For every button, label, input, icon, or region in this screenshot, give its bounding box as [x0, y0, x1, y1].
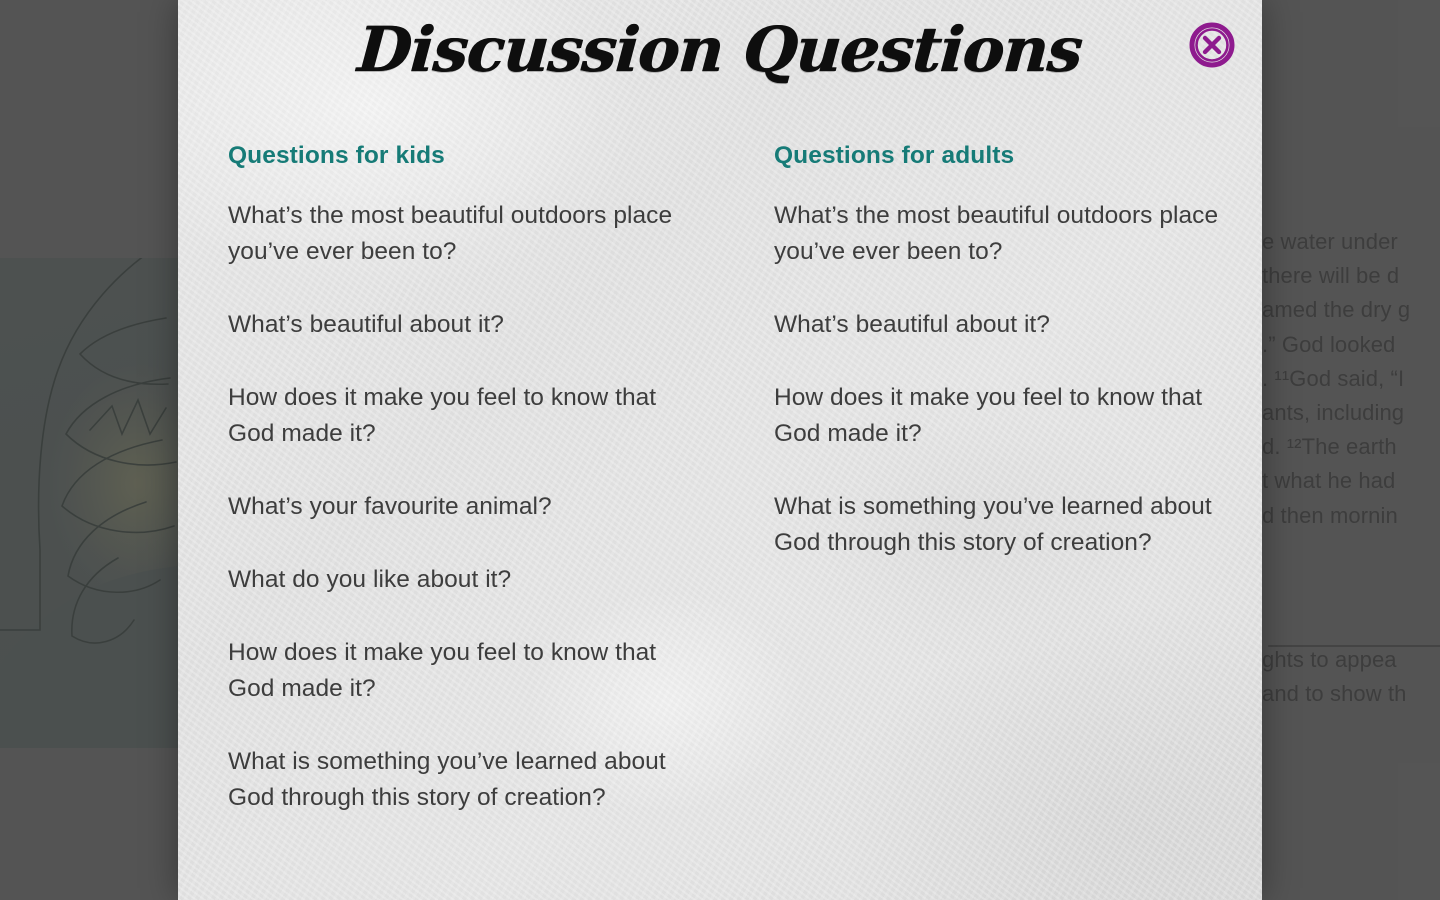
background-illustration	[0, 258, 185, 748]
list-item: How does it make you feel to know that G…	[228, 380, 680, 452]
background-text-line: d then mornin	[1262, 499, 1440, 533]
list-item: What’s the most beautiful outdoors place…	[774, 198, 1226, 270]
list-item: What do you like about it?	[228, 562, 680, 598]
questions-columns: Questions for kids What’s the most beaut…	[178, 84, 1262, 815]
leaf-line-art-icon	[0, 258, 185, 748]
list-item: What’s the most beautiful outdoors place…	[228, 198, 680, 270]
background-text-line: . ¹¹God said, “I	[1262, 362, 1440, 396]
background-text-line: t what he had	[1262, 464, 1440, 498]
close-icon-glyph	[1185, 18, 1239, 72]
background-text-line: there will be d	[1262, 259, 1440, 293]
adults-questions-column: Questions for adults What’s the most bea…	[774, 141, 1226, 815]
list-item: What’s beautiful about it?	[774, 307, 1226, 343]
background-text-line: ghts to appea	[1262, 643, 1440, 677]
list-item: What is something you’ve learned about G…	[228, 744, 680, 816]
background-text-line: amed the dry g	[1262, 293, 1440, 327]
background-text-line: ants, including	[1262, 396, 1440, 430]
list-item: How does it make you feel to know that G…	[774, 380, 1226, 452]
background-text-gap	[1262, 533, 1440, 643]
background-divider	[1268, 645, 1440, 647]
list-item: What’s your favourite animal?	[228, 489, 680, 525]
list-item: How does it make you feel to know that G…	[228, 635, 680, 707]
list-item: What’s beautiful about it?	[228, 307, 680, 343]
adults-column-heading: Questions for adults	[774, 141, 1226, 170]
background-text-line: e water under	[1262, 225, 1440, 259]
discussion-questions-modal: Discussion Questions Questions for kids …	[178, 0, 1262, 900]
background-text-line: .” God looked	[1262, 328, 1440, 362]
close-circle-x-icon[interactable]	[1185, 18, 1239, 72]
list-item: What is something you’ve learned about G…	[774, 489, 1226, 561]
background-scripture-text: e water under there will be d amed the d…	[1262, 0, 1440, 900]
background-text-line: d. ¹²The earth	[1262, 430, 1440, 464]
page-title: Discussion Questions	[178, 0, 1262, 84]
kids-column-heading: Questions for kids	[228, 141, 680, 170]
background-text-line: and to show th	[1262, 677, 1440, 711]
kids-questions-column: Questions for kids What’s the most beaut…	[228, 141, 680, 815]
